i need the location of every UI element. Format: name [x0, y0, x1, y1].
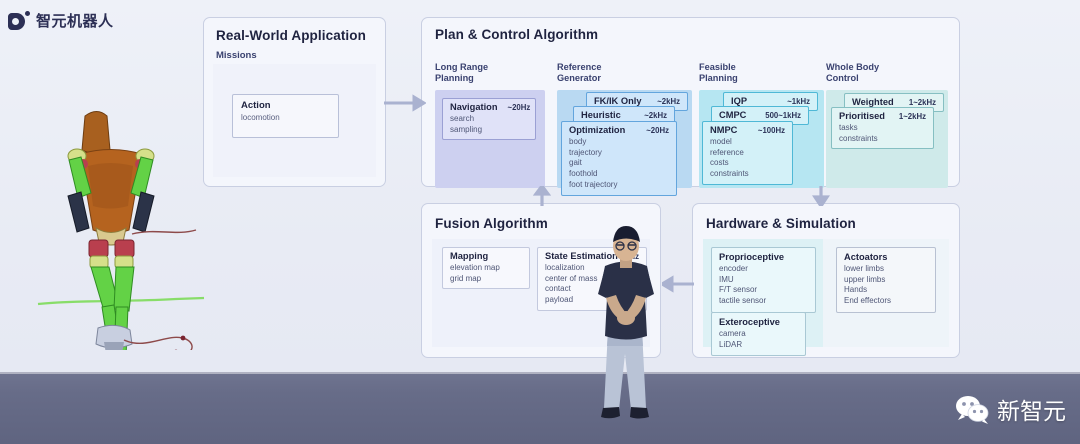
- stage-floor: [0, 372, 1080, 444]
- card-proprioceptive-title: Proprioceptive: [719, 252, 808, 262]
- watermark: 新智元: [955, 392, 1066, 426]
- card-iqp-hz: ~1kHz: [777, 97, 810, 106]
- arrow-fusion-to-plan: [533, 186, 551, 206]
- panel-title-fusion-algorithm: Fusion Algorithm: [435, 216, 548, 231]
- well-long-range-planning: Navigation ~20Hz search sampling: [435, 90, 545, 188]
- panel-title-real-world: Real-World Application: [216, 28, 366, 43]
- humanoid-robot-illustration: [36, 88, 211, 350]
- card-exteroceptive-items: camera LiDAR: [719, 329, 798, 350]
- card-exteroceptive-title: Exteroceptive: [719, 317, 798, 327]
- card-exteroceptive: Exteroceptive camera LiDAR: [711, 312, 806, 356]
- column-label-long-range-planning: Long Range Planning: [435, 62, 488, 84]
- card-prioritised-hz: 1~2kHz: [889, 112, 926, 121]
- card-optimization-items: body trajectory gait foothold foot traje…: [569, 137, 669, 191]
- card-cmpc-hz: 500~1kHz: [755, 111, 801, 120]
- card-heuristic-title: Heuristic: [581, 110, 621, 120]
- card-mapping: Mapping elevation map grid map: [442, 247, 530, 289]
- card-cmpc-title: CMPC: [719, 110, 746, 120]
- watermark-text: 新智元: [997, 392, 1066, 426]
- card-actuators: Actoators lower limbs upper limbs Hands …: [836, 247, 936, 313]
- card-optimization: Optimization ~20Hz body trajectory gait …: [561, 121, 677, 196]
- card-navigation-title: Navigation: [450, 102, 498, 112]
- card-fkik-only-title: FK/IK Only: [594, 96, 642, 106]
- card-mapping-items: elevation map grid map: [450, 263, 522, 284]
- hardware-well: Proprioceptive encoder IMU F/T sensor ta…: [703, 239, 949, 347]
- card-nmpc-hz: ~100Hz: [748, 126, 785, 135]
- card-navigation: Navigation ~20Hz search sampling: [442, 98, 536, 140]
- card-heuristic-hz: ~2kHz: [634, 111, 667, 120]
- panel-plan-control-algorithm: Plan & Control Algorithm Long Range Plan…: [421, 17, 960, 187]
- card-iqp-title: IQP: [731, 96, 747, 106]
- card-action-items: locomotion: [241, 113, 338, 122]
- card-prioritised-title: Prioritised: [839, 111, 885, 121]
- presenter-person: [578, 222, 674, 440]
- card-action: Action locomotion: [232, 94, 339, 138]
- column-label-feasible-planning: Feasible Planning: [699, 62, 738, 84]
- card-nmpc: NMPC ~100Hz model reference costs constr…: [702, 121, 793, 185]
- real-world-well: Action locomotion: [213, 64, 376, 177]
- card-proprioceptive-items: encoder IMU F/T sensor tactile sensor: [719, 264, 808, 307]
- card-action-title: Action: [241, 100, 338, 111]
- card-nmpc-items: model reference costs constraints: [710, 137, 785, 180]
- agibot-logo-icon: [8, 11, 30, 31]
- card-optimization-title: Optimization: [569, 125, 625, 135]
- card-prioritised: Prioritised 1~2kHz tasks constraints: [831, 107, 934, 149]
- panel-title-plan-control: Plan & Control Algorithm: [435, 27, 598, 42]
- arrow-plan-to-hardware: [812, 186, 830, 206]
- card-navigation-items: search sampling: [450, 114, 528, 135]
- column-label-whole-body-control: Whole Body Control: [826, 62, 879, 84]
- wechat-icon: [955, 395, 989, 424]
- well-feasible-planning: IQP ~1kHz CMPC 500~1kHz NMPC ~100Hz mode…: [699, 90, 824, 188]
- card-mapping-title: Mapping: [450, 251, 488, 261]
- card-optimization-hz: ~20Hz: [636, 126, 669, 135]
- missions-label: Missions: [216, 50, 257, 61]
- brand-name: 智元机器人: [36, 10, 114, 31]
- panel-title-hardware-simulation: Hardware & Simulation: [706, 216, 856, 231]
- card-fkik-only-hz: ~2kHz: [647, 97, 680, 106]
- card-weighted-hz: 1~2kHz: [899, 98, 936, 107]
- card-weighted-title: Weighted: [852, 97, 894, 107]
- column-label-reference-generator: Reference Generator: [557, 62, 601, 84]
- panel-real-world-application: Real-World Application Missions Action l…: [203, 17, 386, 187]
- well-whole-body-control: Weighted 1~2kHz Prioritised 1~2kHz tasks…: [826, 90, 948, 188]
- arrow-realworld-to-plan: [384, 94, 426, 112]
- card-prioritised-items: tasks constraints: [839, 123, 926, 144]
- well-reference-generator: FK/IK Only ~2kHz Heuristic ~2kHz Optimiz…: [557, 90, 692, 188]
- card-actuators-title: Actoators: [844, 252, 928, 262]
- panel-hardware-simulation: Hardware & Simulation Proprioceptive enc…: [692, 203, 960, 358]
- card-navigation-hz: ~20Hz: [498, 103, 531, 112]
- card-nmpc-title: NMPC: [710, 125, 737, 135]
- card-proprioceptive: Proprioceptive encoder IMU F/T sensor ta…: [711, 247, 816, 313]
- brand-logo: 智元机器人: [8, 10, 114, 31]
- card-actuators-items: lower limbs upper limbs Hands End effect…: [844, 264, 928, 307]
